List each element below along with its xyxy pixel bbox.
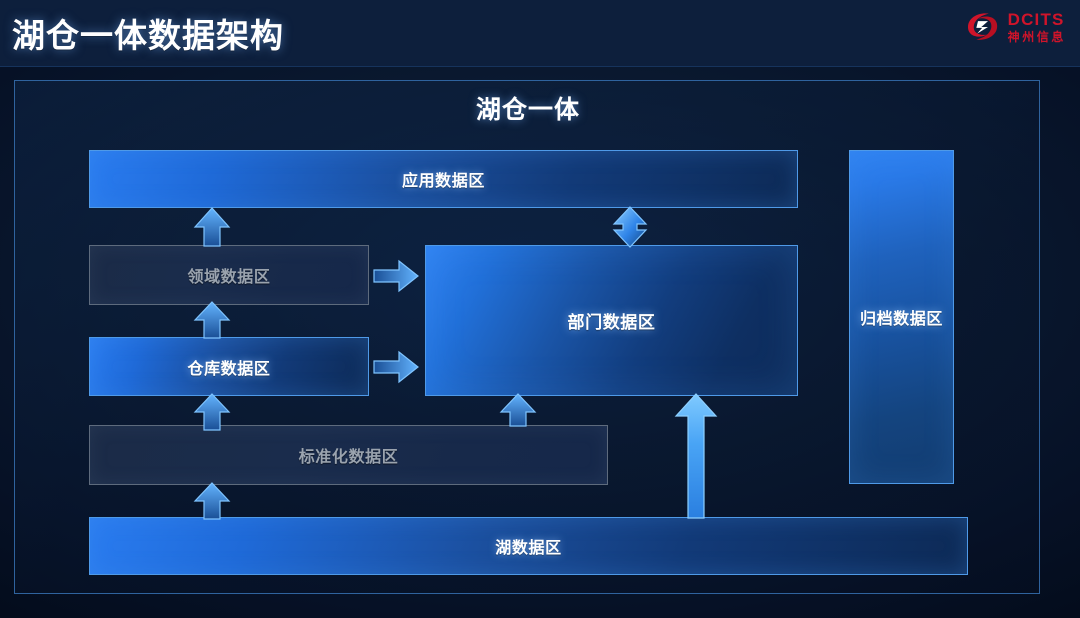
box-label: 仓库数据区 <box>187 355 270 379</box>
box-label: 标准化数据区 <box>299 443 399 467</box>
box-label: 归档数据区 <box>860 305 943 329</box>
box-label: 领域数据区 <box>187 263 270 287</box>
logo-text-cn: 神州信息 <box>1008 31 1066 43</box>
slide-header: 湖仓一体数据架构 DCITS 神州信息 <box>0 0 1080 67</box>
box-warehouse-data-zone[interactable]: 仓库数据区 <box>89 337 369 396</box>
box-lake-data-zone[interactable]: 湖数据区 <box>89 517 968 575</box>
arrow-bidirectional-icon-dept-to-app <box>610 206 650 248</box>
arrow-up-icon-wh-to-domain <box>192 300 234 340</box>
arrow-right-icon-wh-to-dept <box>372 349 420 385</box>
arrow-up-icon-domain-to-app <box>192 206 234 248</box>
box-domain-data-zone[interactable]: 领域数据区 <box>89 245 369 305</box>
box-standardized-data-zone[interactable]: 标准化数据区 <box>89 425 608 485</box>
logo-text-en: DCITS <box>1008 11 1066 28</box>
arrow-up-icon-std-to-dept <box>498 392 540 428</box>
container-title: 湖仓一体 <box>15 90 1041 126</box>
page-title: 湖仓一体数据架构 <box>12 9 284 57</box>
arrow-up-icon-std-to-wh <box>192 392 234 432</box>
arrow-up-long-icon-lake-to-dept <box>673 392 719 520</box>
brand-logo: DCITS 神州信息 <box>963 10 1066 44</box>
box-label: 湖数据区 <box>495 534 561 558</box>
slide-canvas: 湖仓一体数据架构 DCITS 神州信息 湖仓一体 应用数据区 领域数据区 仓库数… <box>0 0 1080 618</box>
arrow-right-icon-domain-to-dept <box>372 258 420 294</box>
dcits-swirl-icon <box>963 10 1003 44</box>
box-archive-data-zone[interactable]: 归档数据区 <box>849 150 954 484</box>
box-department-data-zone[interactable]: 部门数据区 <box>425 245 798 396</box>
logo-wordmark: DCITS 神州信息 <box>1008 11 1066 43</box>
arrow-up-icon-lake-to-std <box>192 481 234 521</box>
box-label: 应用数据区 <box>402 167 485 191</box>
box-application-data-zone[interactable]: 应用数据区 <box>89 150 798 208</box>
box-label: 部门数据区 <box>568 308 656 333</box>
